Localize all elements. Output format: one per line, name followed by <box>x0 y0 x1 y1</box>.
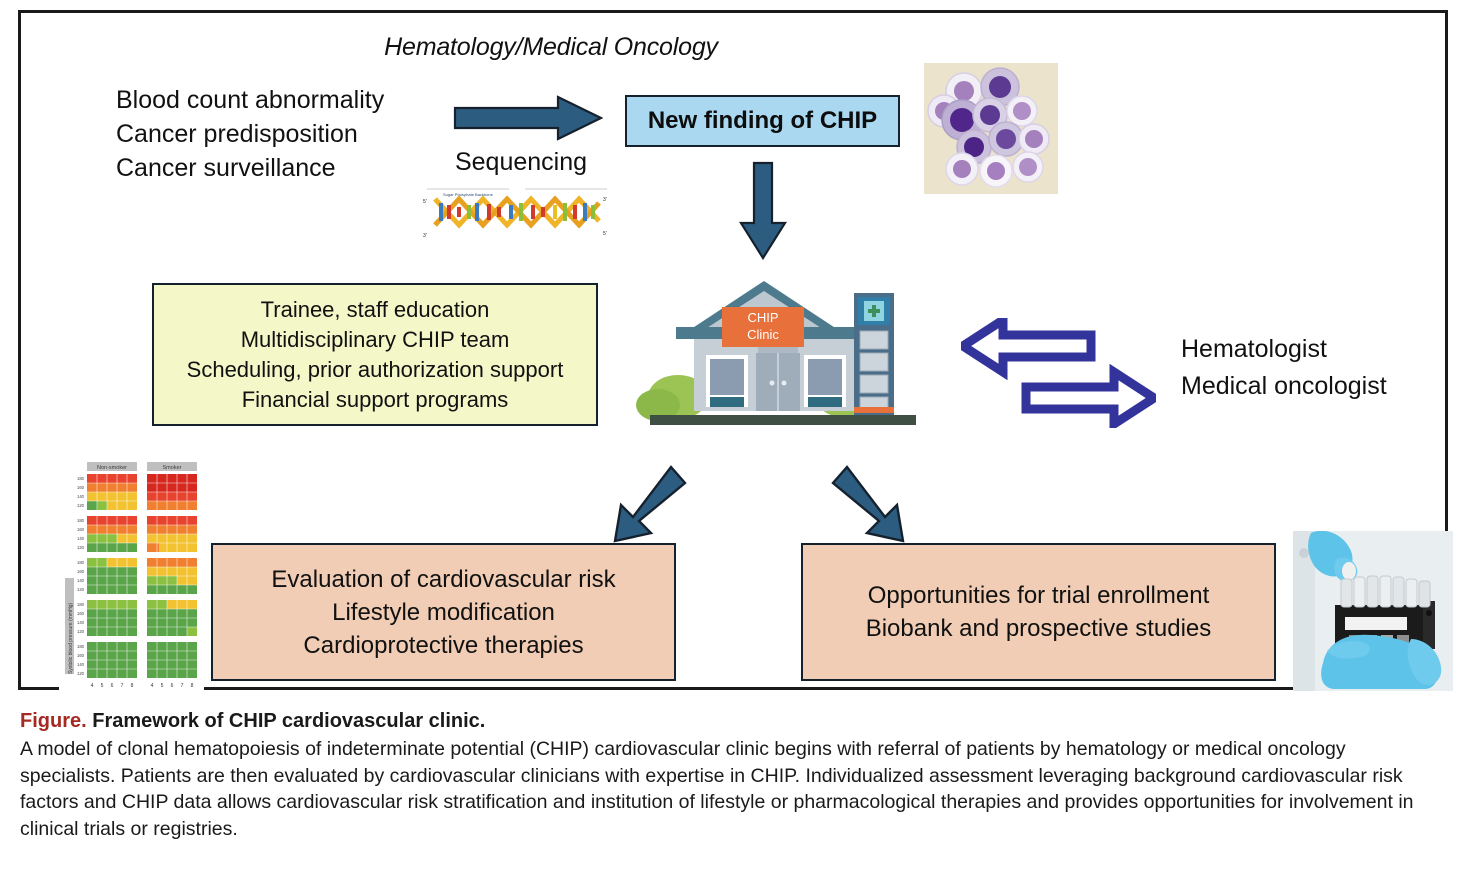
svg-text:120: 120 <box>77 671 85 676</box>
trial-line-2: Biobank and prospective studies <box>866 612 1212 645</box>
svg-text:160: 160 <box>77 527 85 532</box>
clonal-blood-cells-icon <box>924 63 1058 194</box>
svg-text:140: 140 <box>77 578 85 583</box>
arrow-right-icon <box>453 95 603 141</box>
svg-text:160: 160 <box>77 653 85 658</box>
svg-text:5: 5 <box>101 683 104 689</box>
specialist-2: Medical oncologist <box>1181 368 1464 405</box>
caption-figure-word: Figure. <box>20 710 87 732</box>
svg-text:5': 5' <box>603 231 607 237</box>
referral-reasons-list: Blood count abnormality Cancer predispos… <box>116 83 446 185</box>
figure-caption: Figure. Framework of CHIP cardiovascular… <box>20 706 1444 842</box>
svg-text:120: 120 <box>77 587 85 592</box>
bidirectional-arrow-icon <box>961 318 1156 428</box>
figure-frame: Hematology/Medical Oncology Blood count … <box>18 10 1448 690</box>
sequencing-label: Sequencing <box>426 148 616 177</box>
referral-reason-3: Cancer surveillance <box>116 151 446 185</box>
specialist-list: Hematologist Medical oncologist <box>1181 331 1464 405</box>
svg-text:Sugar Phosphate Backbone: Sugar Phosphate Backbone <box>443 192 494 197</box>
support-line-1: Trainee, staff education <box>261 295 490 325</box>
svg-text:120: 120 <box>77 503 85 508</box>
caption-title: Framework of CHIP cardiovascular clinic. <box>92 710 485 732</box>
cv-line-2: Lifestyle modification <box>332 596 555 629</box>
cv-line-3: Cardioprotective therapies <box>303 629 583 662</box>
figure-header-title: Hematology/Medical Oncology <box>351 33 751 62</box>
caption-heading: Figure. Framework of CHIP cardiovascular… <box>20 706 1444 736</box>
svg-text:5: 5 <box>161 683 164 689</box>
cardiovascular-outcomes-box: Evaluation of cardiovascular risk Lifest… <box>211 543 676 681</box>
svg-text:4: 4 <box>151 683 154 689</box>
svg-text:4: 4 <box>91 683 94 689</box>
svg-text:5': 5' <box>423 199 427 205</box>
support-services-box: Trainee, staff education Multidisciplina… <box>152 283 598 426</box>
svg-text:180: 180 <box>77 518 85 523</box>
svg-text:140: 140 <box>77 620 85 625</box>
arrow-down-icon <box>739 161 787 261</box>
svg-text:Non-smoker: Non-smoker <box>97 465 127 471</box>
svg-text:180: 180 <box>77 602 85 607</box>
svg-text:160: 160 <box>77 485 85 490</box>
svg-text:7: 7 <box>181 683 184 689</box>
svg-text:8: 8 <box>131 683 134 689</box>
lab-sample-tubes-photo <box>1293 531 1453 691</box>
svg-text:Smoker: Smoker <box>163 465 182 471</box>
research-opportunities-box: Opportunities for trial enrollment Bioba… <box>801 543 1276 681</box>
svg-text:120: 120 <box>77 545 85 550</box>
support-line-2: Multidisciplinary CHIP team <box>241 325 510 355</box>
svg-text:180: 180 <box>77 476 85 481</box>
dna-double-helix-icon: Sugar Phosphate Backbone 5' 3' 3' 5' <box>421 181 613 243</box>
support-line-3: Scheduling, prior authorization support <box>187 355 564 385</box>
support-line-4: Financial support programs <box>242 385 509 415</box>
specialist-1: Hematologist <box>1181 331 1464 368</box>
chip-finding-box: New finding of CHIP <box>625 95 900 147</box>
svg-text:3': 3' <box>423 233 427 239</box>
clinic-sign-line-2: Clinic <box>747 327 779 342</box>
svg-text:Systolic blood pressure (mmHg): Systolic blood pressure (mmHg) <box>68 603 74 674</box>
chip-clinic-building-icon: CHIP Clinic <box>636 275 931 435</box>
svg-text:160: 160 <box>77 569 85 574</box>
referral-reason-2: Cancer predisposition <box>116 117 446 151</box>
svg-text:8: 8 <box>191 683 194 689</box>
svg-text:6: 6 <box>171 683 174 689</box>
referral-reason-1: Blood count abnormality <box>116 83 446 117</box>
cv-line-1: Evaluation of cardiovascular risk <box>271 563 615 596</box>
svg-text:6: 6 <box>111 683 114 689</box>
svg-text:3': 3' <box>603 197 607 203</box>
svg-text:180: 180 <box>77 644 85 649</box>
svg-text:7: 7 <box>121 683 124 689</box>
svg-text:140: 140 <box>77 494 85 499</box>
svg-text:120: 120 <box>77 629 85 634</box>
svg-text:160: 160 <box>77 611 85 616</box>
clinic-sign-line-1: CHIP <box>747 310 778 325</box>
arrow-down-right-icon <box>829 463 909 545</box>
svg-text:140: 140 <box>77 662 85 667</box>
cardiovascular-risk-score-chart-icon: Non-smoker Smoker 180160 140120 180160 1… <box>59 458 204 698</box>
svg-text:140: 140 <box>77 536 85 541</box>
svg-text:180: 180 <box>77 560 85 565</box>
arrow-down-left-icon <box>609 463 689 545</box>
caption-body: A model of clonal hematopoiesis of indet… <box>20 736 1444 842</box>
trial-line-1: Opportunities for trial enrollment <box>868 579 1209 612</box>
